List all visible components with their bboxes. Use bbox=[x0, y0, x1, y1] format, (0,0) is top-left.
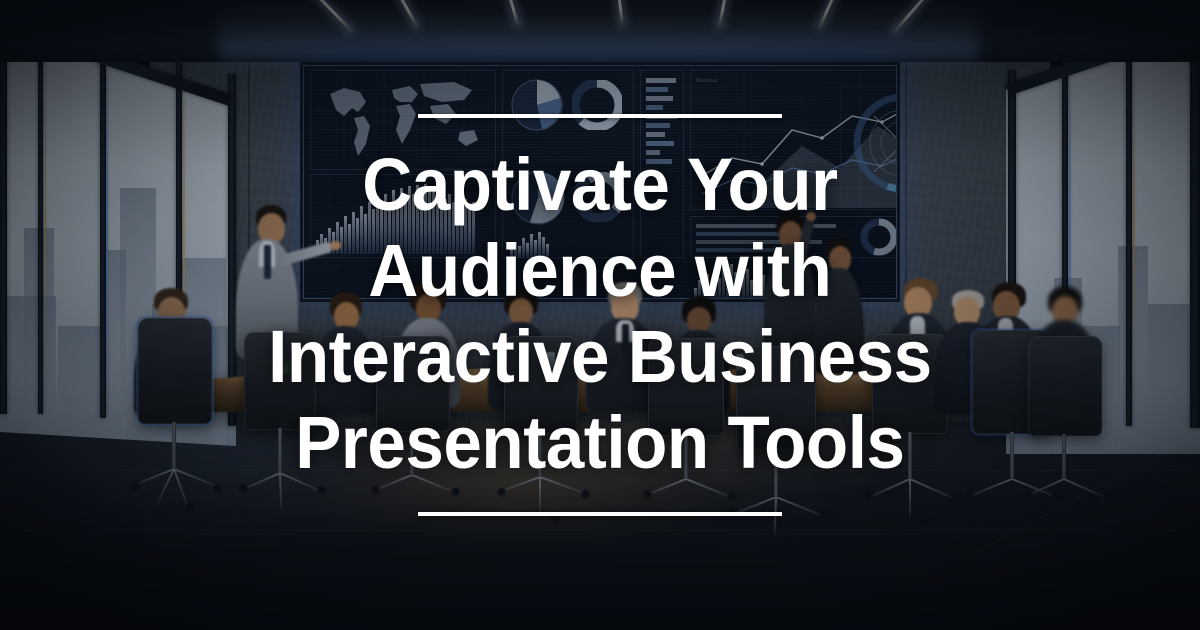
hero-banner: RevenueGrowth bbox=[0, 0, 1200, 630]
headline-block: Captivate Your Audience with Interactive… bbox=[0, 0, 1200, 630]
page-title: Captivate Your Audience with Interactive… bbox=[268, 142, 932, 486]
divider-rule-bottom bbox=[418, 512, 782, 516]
divider-rule-top bbox=[418, 114, 782, 118]
